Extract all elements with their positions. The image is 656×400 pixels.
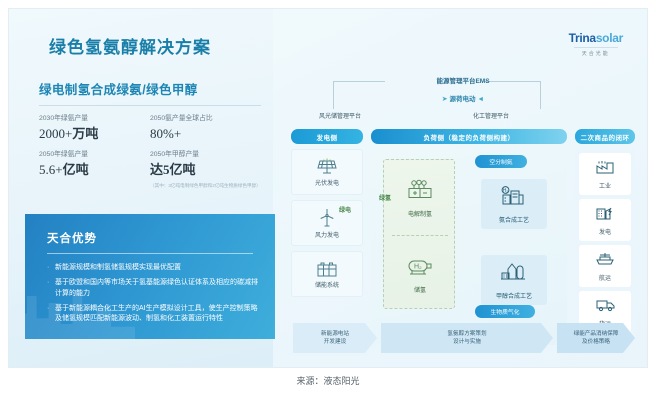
industry-icon (595, 159, 615, 179)
loop-column: 工业 发电 航运 货运 (575, 149, 635, 341)
arrow-right-icon: ➤ (442, 96, 448, 103)
ems-label: 能源管理平台EMS (383, 75, 543, 85)
list-item-text: 基于欧盟和国内等市场关于氢基能源绿色认证体系及相应的碳减排计算的能力 (55, 278, 259, 300)
section-title: 绿电制氢合成绿氨/绿色甲醇 (39, 79, 261, 105)
list-item: · 新能源规模和制氢储氢规模实现最优配置 (47, 263, 259, 274)
logo-brand-second: solar (596, 31, 623, 45)
platform-right-label: 化工管理平台 (441, 111, 541, 120)
list-item-text: 基于新能源耦合化工生产的AI生产模拟设计工具，使生产控制策略及储氢规模匹配新能源… (55, 304, 259, 326)
stats-footnote: （其中：3亿吨电制绿色甲醇和2亿吨生物质绿色甲醇） (150, 183, 261, 190)
flow-label-green-power: 绿电 (339, 205, 351, 214)
bullet-icon: · (47, 278, 55, 300)
chevron-step-1: 新能源电站开发建设 (293, 323, 377, 353)
hydrogen-divider (392, 235, 448, 236)
power-plant-icon (595, 205, 615, 225)
chevron-text: 新能源电站开发建设 (321, 330, 349, 347)
pill-air-separation: 空分制氮 (475, 155, 527, 168)
advantage-list: · 新能源规模和制氢储氢规模实现最优配置 · 基于欧盟和国内等市场关于氢基能源绿… (47, 263, 259, 325)
logo-brand-cn: 天合光能 (569, 50, 623, 57)
hydrogen-label: 电解制氢 (408, 209, 432, 218)
stat-value-number: 80%+ (150, 126, 181, 141)
source-load-label: ➤ 源荷电动 ◄ (383, 93, 543, 103)
loop-tile-power: 发电 (579, 199, 631, 241)
flow-label-green-hydrogen: 绿氢 (379, 193, 391, 202)
ammonia-plant-icon: H₂ (499, 185, 529, 212)
electrolyzer-icon (405, 179, 435, 206)
hydrogen-subregion: 电解制氢 H₂ 储氢 (383, 159, 455, 309)
battery-storage-icon (316, 260, 338, 278)
stat-label: 2030年绿氨产量 (39, 115, 150, 124)
bullet-icon: · (47, 304, 55, 326)
list-item-text: 新能源规模和制氢储氢规模实现最优配置 (55, 263, 181, 274)
source-load-text: 源荷电动 (449, 96, 475, 103)
chevron-line2: 开发建设 (324, 339, 346, 345)
solution-diagram: 能源管理平台EMS ➤ 源荷电动 ◄ 风光储管理平台 化工管理平台 发电侧 负荷… (291, 55, 635, 360)
generation-label: 储能系统 (315, 280, 339, 289)
generation-tile-storage: 储能系统 (291, 251, 363, 297)
hydrogen-tile-storage: H₂ 储氢 (384, 238, 456, 310)
chevron-line1: 绿能产品消纳保障 (574, 331, 619, 337)
generation-label: 风力发电 (315, 230, 339, 239)
chevron-line2: 及价格策略 (582, 339, 610, 345)
load-region: 电解制氢 H₂ 储氢 空分制氮 生物质气化 H₂ 氨合成工艺 (371, 149, 567, 345)
svg-text:H₂: H₂ (503, 188, 509, 194)
generation-tile-wind: 风力发电 (291, 200, 363, 246)
stat-value: 达5亿吨 (150, 163, 261, 178)
hydrogen-tile-electrolyzer: 电解制氢 (384, 162, 456, 234)
chevron-line1: 新能源电站 (321, 331, 349, 337)
column-header-load: 负荷侧（稳定的负荷侧构建） (371, 129, 567, 144)
stat-item: 2050年甲醇产量 达5亿吨 (150, 151, 261, 178)
process-chevrons: 新能源电站开发建设 氢氨醇方案策划设计与实施 绿能产品消纳保障及价格策略 (291, 323, 635, 355)
stat-value-unit: 万吨 (72, 126, 98, 141)
loop-label: 工业 (599, 181, 611, 190)
shipping-icon (595, 251, 615, 271)
logo-divider (574, 47, 618, 48)
generation-label: 光伏发电 (315, 178, 339, 187)
stat-item: 2030年绿氨产量 2000+万吨 (39, 115, 150, 142)
stat-value-number: 2000+ (39, 126, 72, 141)
advantage-card: 天合优势 · 新能源规模和制氢储氢规模实现最优配置 · 基于欧盟和国内等市场关于… (25, 214, 275, 339)
stat-value: 2000+万吨 (39, 127, 150, 142)
advantage-title: 天合优势 (47, 230, 275, 246)
column-header-generation: 发电侧 (291, 129, 363, 144)
advantage-divider (47, 253, 253, 254)
stat-item: 2050氨产量全球占比 80%+ (150, 115, 261, 142)
process-label: 氨合成工艺 (499, 215, 529, 224)
generation-column: 光伏发电 风力发电 储能系统 (291, 149, 363, 302)
source-caption: 来源：液态阳光 (0, 374, 656, 387)
svg-text:H₂: H₂ (414, 263, 422, 270)
left-panel: 绿电制氢合成绿氨/绿色甲醇 2030年绿氨产量 2000+万吨 2050氨产量全… (39, 79, 261, 189)
pill-biomass-gasification: 生物质气化 (475, 305, 535, 318)
chevron-step-2: 氢氨醇方案策划设计与实施 (381, 323, 553, 353)
wind-turbine-icon (317, 208, 337, 228)
list-item: · 基于欧盟和国内等市场关于氢基能源绿色认证体系及相应的碳减排计算的能力 (47, 278, 259, 300)
stat-label: 2050氨产量全球占比 (150, 115, 261, 124)
logo-wordmark: Trinasolar (569, 31, 623, 45)
column-header-loop: 二次商品的闭环 (575, 129, 635, 144)
chevron-text: 绿能产品消纳保障及价格策略 (574, 330, 619, 347)
hydrogen-label: 储氢 (414, 285, 426, 294)
trinasolar-logo: Trinasolar 天合光能 (569, 31, 623, 57)
process-tile-ammonia: H₂ 氨合成工艺 (481, 179, 547, 229)
logo-brand-first: Trina (569, 31, 596, 45)
chevron-text: 氢氨醇方案策划设计与实施 (447, 330, 486, 347)
loop-tile-industry: 工业 (579, 153, 631, 195)
chevron-line1: 氢氨醇方案策划 (447, 331, 486, 337)
stat-label: 2050年甲醇产量 (150, 151, 261, 160)
bullet-icon: · (47, 263, 55, 274)
list-item: · 基于新能源耦合化工生产的AI生产模拟设计工具，使生产控制策略及储氢规模匹配新… (47, 304, 259, 326)
connector-left (333, 81, 385, 109)
chevron-step-3: 绿能产品消纳保障及价格策略 (557, 323, 635, 353)
truck-icon (594, 297, 616, 317)
stat-value-unit: 亿吨 (63, 162, 89, 177)
stat-item: 2050年绿氨产量 5.6+亿吨 (39, 151, 150, 178)
stat-value: 5.6+亿吨 (39, 163, 150, 178)
loop-label: 航运 (599, 273, 611, 282)
stat-value-number: 5.6+ (39, 162, 63, 177)
solar-panel-icon (316, 158, 338, 176)
loop-label: 发电 (599, 227, 611, 236)
slide-canvas: 绿色氢氨醇解决方案 Trinasolar 天合光能 绿电制氢合成绿氨/绿色甲醇 … (8, 8, 648, 368)
stat-label: 2050年绿氨产量 (39, 151, 150, 160)
process-tile-methanol: 甲醇合成工艺 (481, 255, 547, 305)
page-title: 绿色氢氨醇解决方案 (49, 33, 211, 58)
chevron-line2: 设计与实施 (453, 339, 481, 345)
section-divider (39, 105, 261, 106)
stat-value-unit: 达5亿吨 (150, 162, 196, 177)
generation-tile-solar: 光伏发电 (291, 149, 363, 195)
loop-tile-shipping: 航运 (579, 245, 631, 287)
arrow-left-icon: ◄ (477, 96, 484, 103)
hydrogen-tank-icon: H₂ (405, 255, 435, 282)
platform-left-label: 风光储管理平台 (297, 111, 383, 120)
methanol-plant-icon (499, 261, 529, 288)
process-label: 甲醇合成工艺 (496, 291, 532, 300)
stat-value: 80%+ (150, 127, 261, 142)
stats-grid: 2030年绿氨产量 2000+万吨 2050氨产量全球占比 80%+ 2050年… (39, 115, 261, 187)
